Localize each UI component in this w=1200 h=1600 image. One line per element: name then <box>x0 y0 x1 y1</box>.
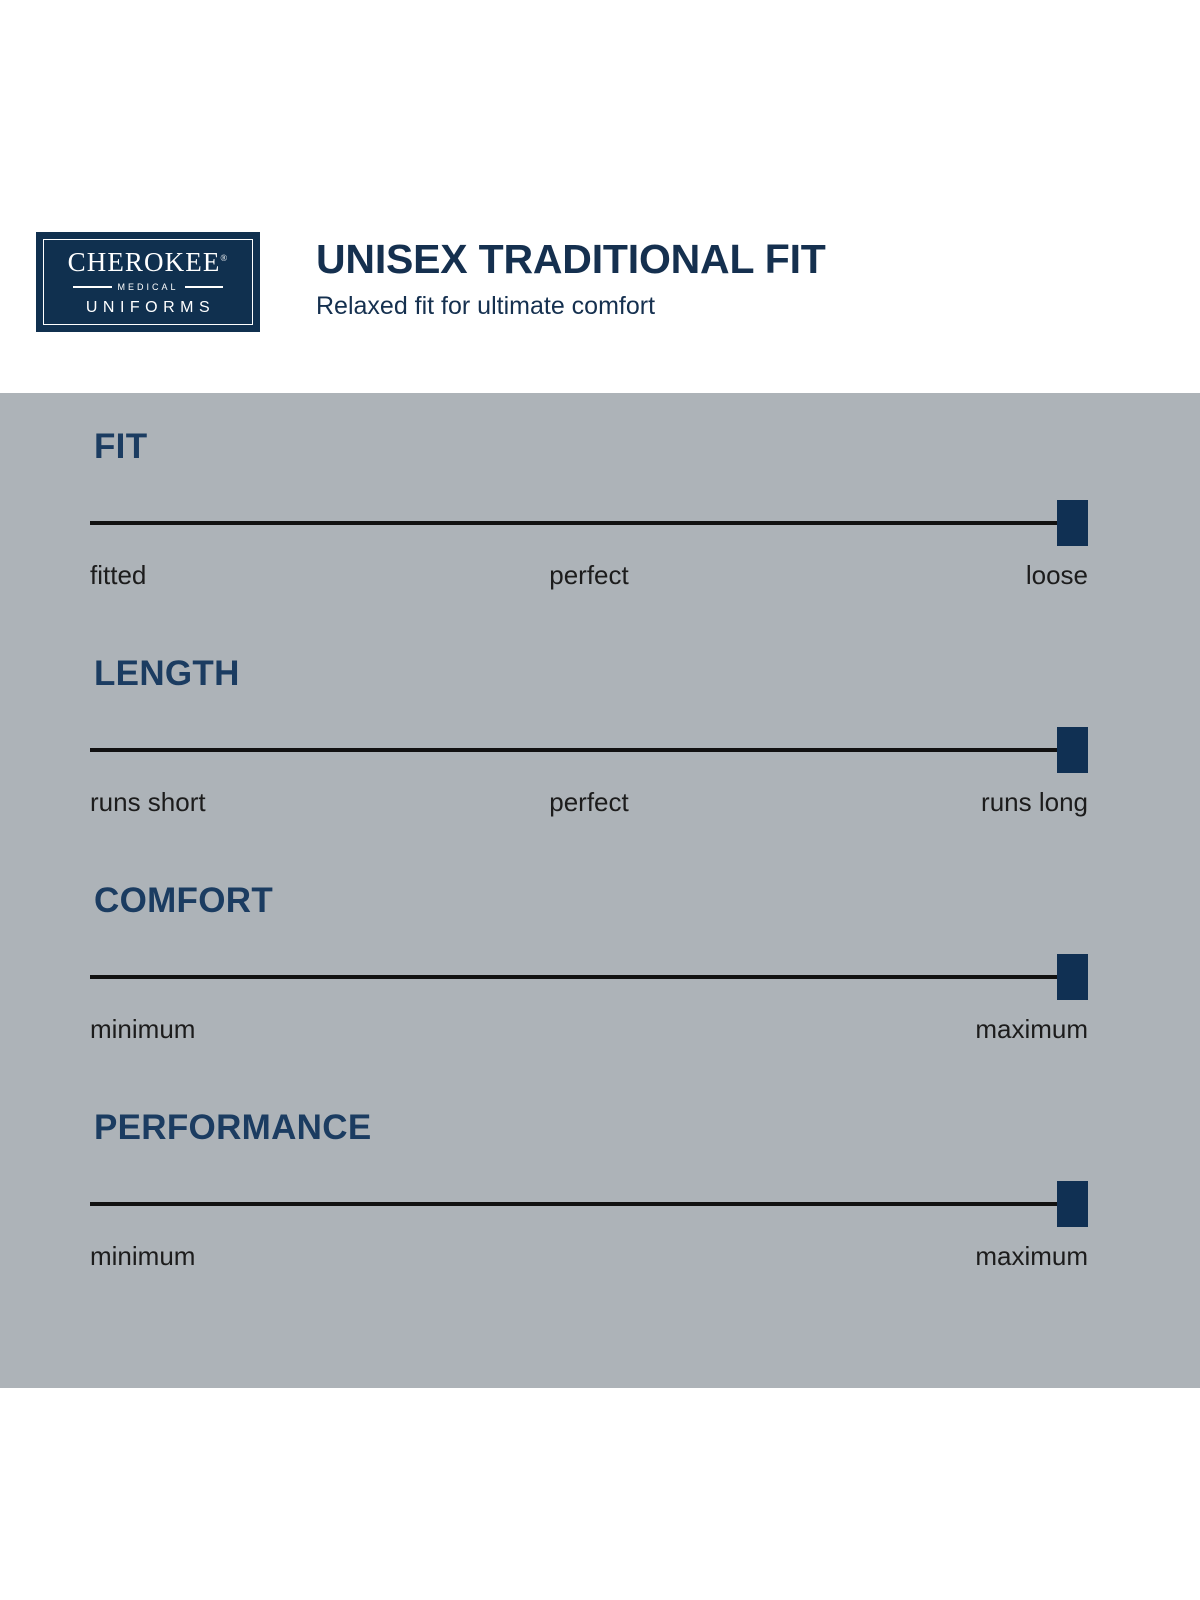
scale-label-mid-fit: perfect <box>549 562 629 588</box>
scale-heading-fit: FIT <box>94 429 1088 464</box>
logo-inner-border: CHEROKEE® MEDICAL UNIFORMS <box>43 239 253 325</box>
scale-label-end-comfort: maximum <box>975 1016 1088 1042</box>
logo-medical-text: MEDICAL <box>118 283 179 292</box>
scale-label-start-comfort: minimum <box>90 1016 195 1042</box>
fit-scale-fit: FIT fitted perfect loose <box>90 393 1088 656</box>
scale-label-start-fit: fitted <box>90 562 146 588</box>
page-header: CHEROKEE® MEDICAL UNIFORMS UNISEX TRADIT… <box>0 0 1200 393</box>
track-line-fit <box>90 521 1088 525</box>
logo-rule-right-icon <box>185 286 224 288</box>
track-marker-length[interactable] <box>1057 727 1088 773</box>
scale-label-mid-length: perfect <box>549 789 629 815</box>
scale-track-performance[interactable] <box>90 1181 1088 1227</box>
track-marker-comfort[interactable] <box>1057 954 1088 1000</box>
logo-rule-left-icon <box>73 286 112 288</box>
scale-labels-length: runs short perfect runs long <box>90 789 1088 829</box>
scale-heading-comfort: COMFORT <box>94 883 1088 918</box>
fit-scale-comfort: COMFORT minimum maximum <box>90 883 1088 1110</box>
scale-heading-length: LENGTH <box>94 656 1088 691</box>
logo-medical-row: MEDICAL <box>73 283 223 292</box>
fit-guide-page: CHEROKEE® MEDICAL UNIFORMS UNISEX TRADIT… <box>0 0 1200 1600</box>
scale-track-fit[interactable] <box>90 500 1088 546</box>
track-line-comfort <box>90 975 1088 979</box>
cherokee-logo: CHEROKEE® MEDICAL UNIFORMS <box>36 232 260 332</box>
fit-scales-panel: FIT fitted perfect loose LENGTH <box>0 393 1200 1388</box>
track-line-length <box>90 748 1088 752</box>
registered-trademark-icon: ® <box>220 253 228 263</box>
fit-scale-length: LENGTH runs short perfect runs long <box>90 656 1088 883</box>
scale-label-end-fit: loose <box>1026 562 1088 588</box>
fit-scale-performance: PERFORMANCE minimum maximum <box>90 1110 1088 1337</box>
track-marker-fit[interactable] <box>1057 500 1088 546</box>
header-text-block: UNISEX TRADITIONAL FIT Relaxed fit for u… <box>316 238 826 321</box>
track-marker-performance[interactable] <box>1057 1181 1088 1227</box>
scale-track-comfort[interactable] <box>90 954 1088 1000</box>
scale-label-end-length: runs long <box>981 789 1088 815</box>
scale-labels-comfort: minimum maximum <box>90 1016 1088 1056</box>
track-line-performance <box>90 1202 1088 1206</box>
scale-labels-performance: minimum maximum <box>90 1243 1088 1283</box>
logo-wordmark-text: CHEROKEE <box>68 247 221 277</box>
fit-scales-list: FIT fitted perfect loose LENGTH <box>90 393 1088 1337</box>
scale-heading-performance: PERFORMANCE <box>94 1110 1088 1145</box>
logo-wordmark: CHEROKEE® <box>68 249 229 276</box>
scale-track-length[interactable] <box>90 727 1088 773</box>
scale-label-end-performance: maximum <box>975 1243 1088 1269</box>
logo-uniforms-text: UNIFORMS <box>81 300 215 316</box>
scale-label-start-length: runs short <box>90 789 206 815</box>
page-title: UNISEX TRADITIONAL FIT <box>316 238 826 281</box>
scale-labels-fit: fitted perfect loose <box>90 562 1088 602</box>
page-subtitle: Relaxed fit for ultimate comfort <box>316 293 826 321</box>
scale-label-start-performance: minimum <box>90 1243 195 1269</box>
